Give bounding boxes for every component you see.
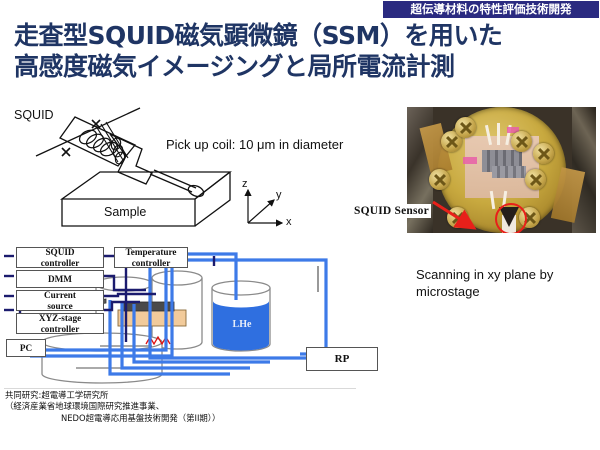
axis-label-x: x: [286, 216, 292, 228]
slide-canvas: 超伝導材料の特性評価技術開発 走査型SQUID磁気顕微鏡（SSM）を用いた 高感…: [0, 0, 600, 450]
photo-sensor-highlight-circle: [495, 203, 527, 233]
setup-box-label: SQUID controller: [41, 247, 80, 268]
footer-line-1: 共同研究:超電導工学研究所: [5, 390, 365, 401]
setup-box-label: Current source: [44, 290, 76, 311]
page-title-line2: 高感度磁気イメージングと局所電流計測: [14, 51, 454, 82]
experimental-setup-diagram: SQUID controller DMM Current source XYZ-…: [0, 246, 400, 396]
scanning-caption: Scanning in xy plane by microstage: [416, 266, 596, 300]
setup-box-label: RP: [335, 354, 350, 365]
photo-screw: [533, 143, 554, 164]
header-badge: 超伝導材料の特性評価技術開発: [383, 1, 599, 18]
photo-pink-marker: [463, 157, 477, 164]
footer-credits: 共同研究:超電導工学研究所 （経済産業省地球環境国際研究推進事業、 NEDO超電…: [5, 390, 365, 424]
sensor-caption: SQUID Sensor: [352, 204, 431, 218]
setup-box-label: PC: [20, 343, 32, 354]
squid-label: SQUID: [14, 108, 54, 122]
photo-screw: [525, 169, 546, 190]
page-title-line1: 走査型SQUID磁気顕微鏡（SSM）を用いた: [14, 20, 454, 51]
setup-box-current-source[interactable]: Current source: [16, 290, 104, 311]
setup-box-temperature-controller[interactable]: Temperature controller: [114, 247, 188, 268]
photo-chip-array-mid: [492, 166, 526, 178]
axis-triad: z y x: [236, 178, 298, 236]
sample-label: Sample: [104, 205, 146, 219]
setup-box-pc[interactable]: PC: [6, 339, 46, 357]
setup-box-label: Temperature controller: [125, 247, 176, 268]
footer-line-2: （経済産業省地球環境国際研究推進事業、: [5, 401, 365, 412]
axis-label-z: z: [242, 178, 248, 190]
setup-box-label: XYZ-stage controller: [39, 313, 81, 334]
page-title: 走査型SQUID磁気顕微鏡（SSM）を用いた 高感度磁気イメージングと局所電流計…: [14, 20, 454, 82]
photo-screw: [511, 131, 532, 152]
setup-box-squid-controller[interactable]: SQUID controller: [16, 247, 104, 268]
pickup-coil-note: Pick up coil: 10 μm in diameter: [166, 137, 343, 152]
setup-box-dmm[interactable]: DMM: [16, 270, 104, 288]
photo-wire-bond: [497, 123, 500, 145]
footer-divider: [4, 388, 356, 389]
sensor-pointer-arrow: [430, 196, 490, 236]
footer-line-3: NEDO超電導応用基盤技術開発（第II期））: [5, 413, 365, 424]
setup-box-rotary-pump[interactable]: RP: [306, 347, 378, 371]
setup-box-label: DMM: [48, 274, 72, 285]
setup-box-xyz-stage-controller[interactable]: XYZ-stage controller: [16, 313, 104, 334]
photo-screw: [455, 117, 476, 138]
axis-label-y: y: [276, 189, 282, 201]
photo-screw: [429, 169, 450, 190]
dewar-liquid-label: LHe: [222, 319, 262, 330]
